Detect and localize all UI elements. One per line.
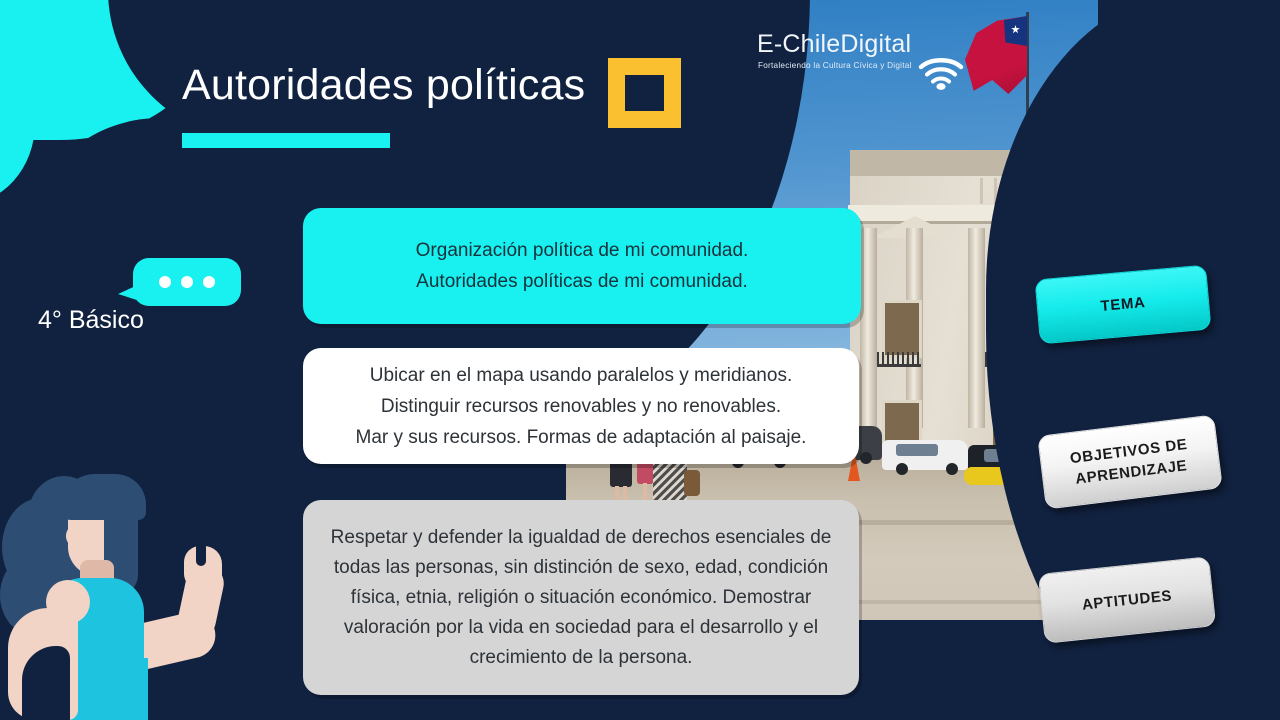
tag-aptitudes-label: APTITUDES <box>1081 587 1173 613</box>
card-tema: Organización política de mi comunidad. A… <box>303 208 861 324</box>
bubble-dot <box>159 276 171 288</box>
card-aptitudes-text: Respetar y defender la igualdad de derec… <box>303 523 859 673</box>
column <box>860 228 877 428</box>
tag-objetivos-label: OBJETIVOS DE APRENDIZAJE <box>1040 430 1220 493</box>
logo-name: E-ChileDigital <box>757 30 911 59</box>
title-underline <box>182 133 390 148</box>
column <box>968 228 985 428</box>
card-objetivos-text: Ubicar en el mapa usando paralelos y mer… <box>330 360 833 453</box>
balcony <box>877 352 921 367</box>
bubble-dot <box>203 276 215 288</box>
card-aptitudes: Respetar y defender la igualdad de derec… <box>303 500 859 695</box>
card-objetivos: Ubicar en el mapa usando paralelos y mer… <box>303 348 859 464</box>
woman-illustration <box>0 468 262 720</box>
card-tema-text: Organización política de mi comunidad. A… <box>390 235 775 297</box>
balustrade-post <box>980 178 983 204</box>
page-title: Autoridades políticas <box>182 64 585 107</box>
slide-canvas: Autoridades políticas E-ChileDigital For… <box>0 0 1280 720</box>
decorative-blob-cut <box>0 182 60 252</box>
hand-gap <box>196 542 206 566</box>
left-arm-gap <box>22 646 70 720</box>
wifi-icon <box>918 56 964 90</box>
yellow-square-accent <box>608 58 681 128</box>
window <box>882 300 922 358</box>
logo-tagline: Fortaleciendo la Cultura Cívica y Digita… <box>758 61 912 70</box>
navy-top-fill <box>400 0 640 240</box>
brand-logo: E-ChileDigital Fortaleciendo la Cultura … <box>757 30 957 76</box>
car-wheel <box>896 463 908 475</box>
car-window <box>896 444 938 456</box>
car-wheel <box>946 463 958 475</box>
car-wheel <box>860 452 872 464</box>
navy-right-notch <box>1098 0 1280 120</box>
ear <box>66 526 82 546</box>
grade-label: 4° Básico <box>38 306 144 335</box>
tag-tema-label: TEMA <box>1100 294 1146 315</box>
bubble-dot <box>181 276 193 288</box>
handbag <box>684 470 700 496</box>
